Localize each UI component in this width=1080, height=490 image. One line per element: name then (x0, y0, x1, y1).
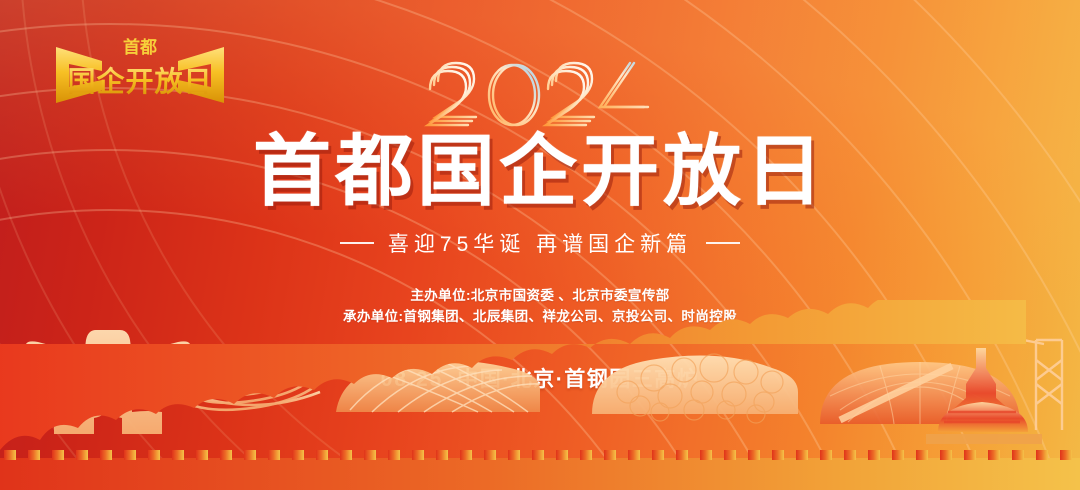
organizer-block: 主办单位:北京市国资委 、北京市委宣传部 承办单位:首钢集团、北辰集团、祥龙公司… (0, 285, 1080, 327)
subtitle-rule-right (706, 242, 740, 244)
subtitle-rule-left (340, 242, 374, 244)
subtitle-text: 喜迎75华诞 再谱国企新篇 (388, 228, 692, 258)
organizer-line-host: 主办单位:北京市国资委 、北京市委宣传部 (0, 285, 1080, 306)
page-title: 首都国企开放日 (0, 128, 1080, 214)
wall-crenellation (0, 450, 1080, 490)
event-date-venue: 08.25中国·北京·首钢园三高炉 (0, 363, 1080, 393)
poster-root: 首都 国企开放日 (0, 0, 1080, 490)
event-date: 08.25 (381, 368, 444, 391)
event-venue: 中国·北京·首钢园三高炉 (457, 368, 699, 391)
subtitle: 喜迎75华诞 再谱国企新篇 (0, 228, 1080, 258)
organizer-line-coorg: 承办单位:首钢集团、北辰集团、祥龙公司、京投公司、时尚控股 (0, 306, 1080, 327)
skyline-illustration (0, 300, 1080, 490)
